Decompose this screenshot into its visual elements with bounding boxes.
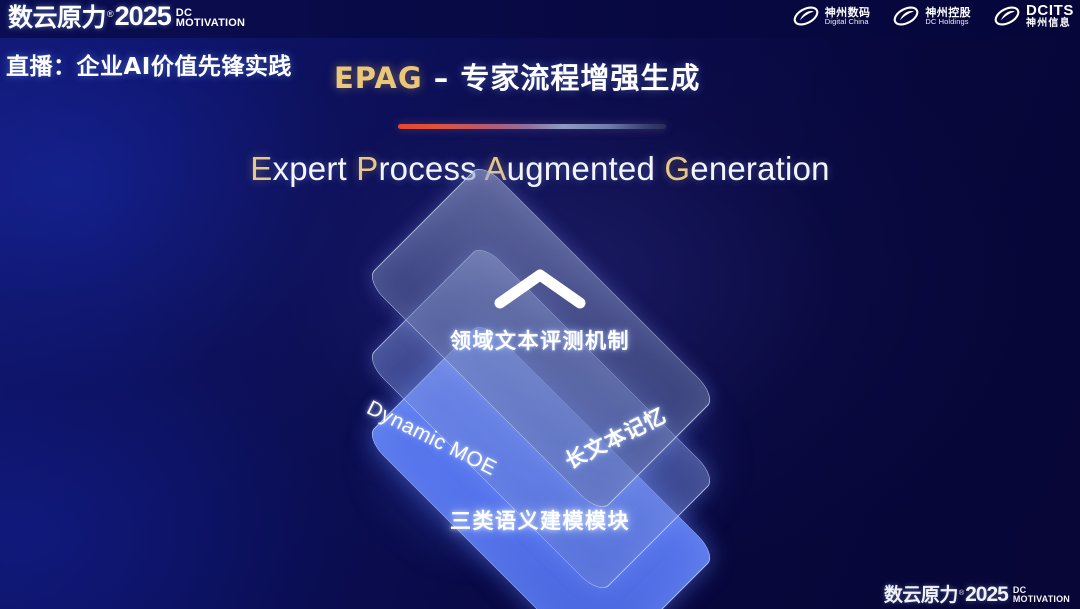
- watermark-name-cn: 数云原力: [884, 586, 958, 605]
- partner-name-cn: 神州信息: [1026, 19, 1074, 29]
- brand-year: 2025: [115, 3, 171, 30]
- live-stream-label: 直播：企业AI价值先锋实践: [6, 47, 292, 81]
- brand-dc-motivation: DC MOTIVATION: [176, 8, 245, 28]
- watermark-registered-mark: ®: [959, 590, 964, 597]
- partner-name-en: Digital China: [825, 18, 871, 26]
- partner-logo-dcits: DCITS 神州信息: [993, 2, 1074, 30]
- partner-name-en: DC Holdings: [925, 18, 971, 26]
- layered-architecture-diagram: 领域文本评测机制 Dynamic MOE 长文本记忆 三类语义建模模块: [248, 215, 832, 575]
- partner-text-digital-china: 神州数码 Digital China: [825, 7, 871, 26]
- subtitle-word-augmented: ugmented: [507, 150, 665, 187]
- slide-title: EPAG – 专家流程增强生成: [334, 55, 700, 97]
- watermark-year: 2025: [965, 584, 1008, 605]
- subtitle-word-generation: eneration: [690, 150, 829, 187]
- subtitle-cap-g: G: [664, 150, 690, 187]
- partner-logo-dc-holdings: 神州控股 DC Holdings: [892, 2, 971, 30]
- brand-logo: 数云原力 ® 2025 DC MOTIVATION: [8, 3, 245, 30]
- diagram-label-top: 领域文本评测机制: [248, 325, 832, 355]
- slide-title-separator: –: [423, 61, 461, 95]
- subtitle-cap-e: E: [250, 150, 272, 187]
- presentation-slide: 数云原力 ® 2025 DC MOTIVATION 直播：企业AI价值先锋实践 …: [0, 0, 1080, 609]
- dc-holdings-swirl-icon: [892, 2, 920, 30]
- subtitle-cap-p: P: [356, 150, 378, 187]
- partner-text-dcits: DCITS 神州信息: [1026, 3, 1074, 28]
- watermark-dc-motivation: DC MOTIVATION: [1013, 586, 1070, 603]
- slide-title-acronym: EPAG: [334, 61, 423, 95]
- brand-dc-line2: MOTIVATION: [176, 18, 245, 28]
- partner-text-dc-holdings: 神州控股 DC Holdings: [925, 7, 971, 26]
- brand-registered-mark: ®: [107, 10, 114, 19]
- diagram-label-bottom: 三类语义建模模块: [248, 505, 832, 535]
- brand-name-cn: 数云原力: [8, 5, 106, 30]
- slide-title-chinese: 专家流程增强生成: [460, 61, 700, 95]
- subtitle-word-expert: xpert: [273, 150, 357, 187]
- digital-china-swirl-icon: [792, 2, 820, 30]
- title-divider: [398, 124, 666, 129]
- chevron-up-icon: [494, 267, 586, 309]
- footer-watermark-logo: 数云原力 ® 2025 DC MOTIVATION: [884, 584, 1070, 605]
- slide-subtitle: Expert Process Augmented Generation: [0, 150, 1080, 188]
- partner-logo-digital-china: 神州数码 Digital China: [792, 2, 871, 30]
- watermark-dc-line2: MOTIVATION: [1013, 595, 1070, 603]
- dcits-swirl-icon: [993, 2, 1021, 30]
- partner-logos: 神州数码 Digital China 神州控股 DC Holdings: [792, 2, 1074, 30]
- partner-name-en: DCITS: [1026, 3, 1074, 18]
